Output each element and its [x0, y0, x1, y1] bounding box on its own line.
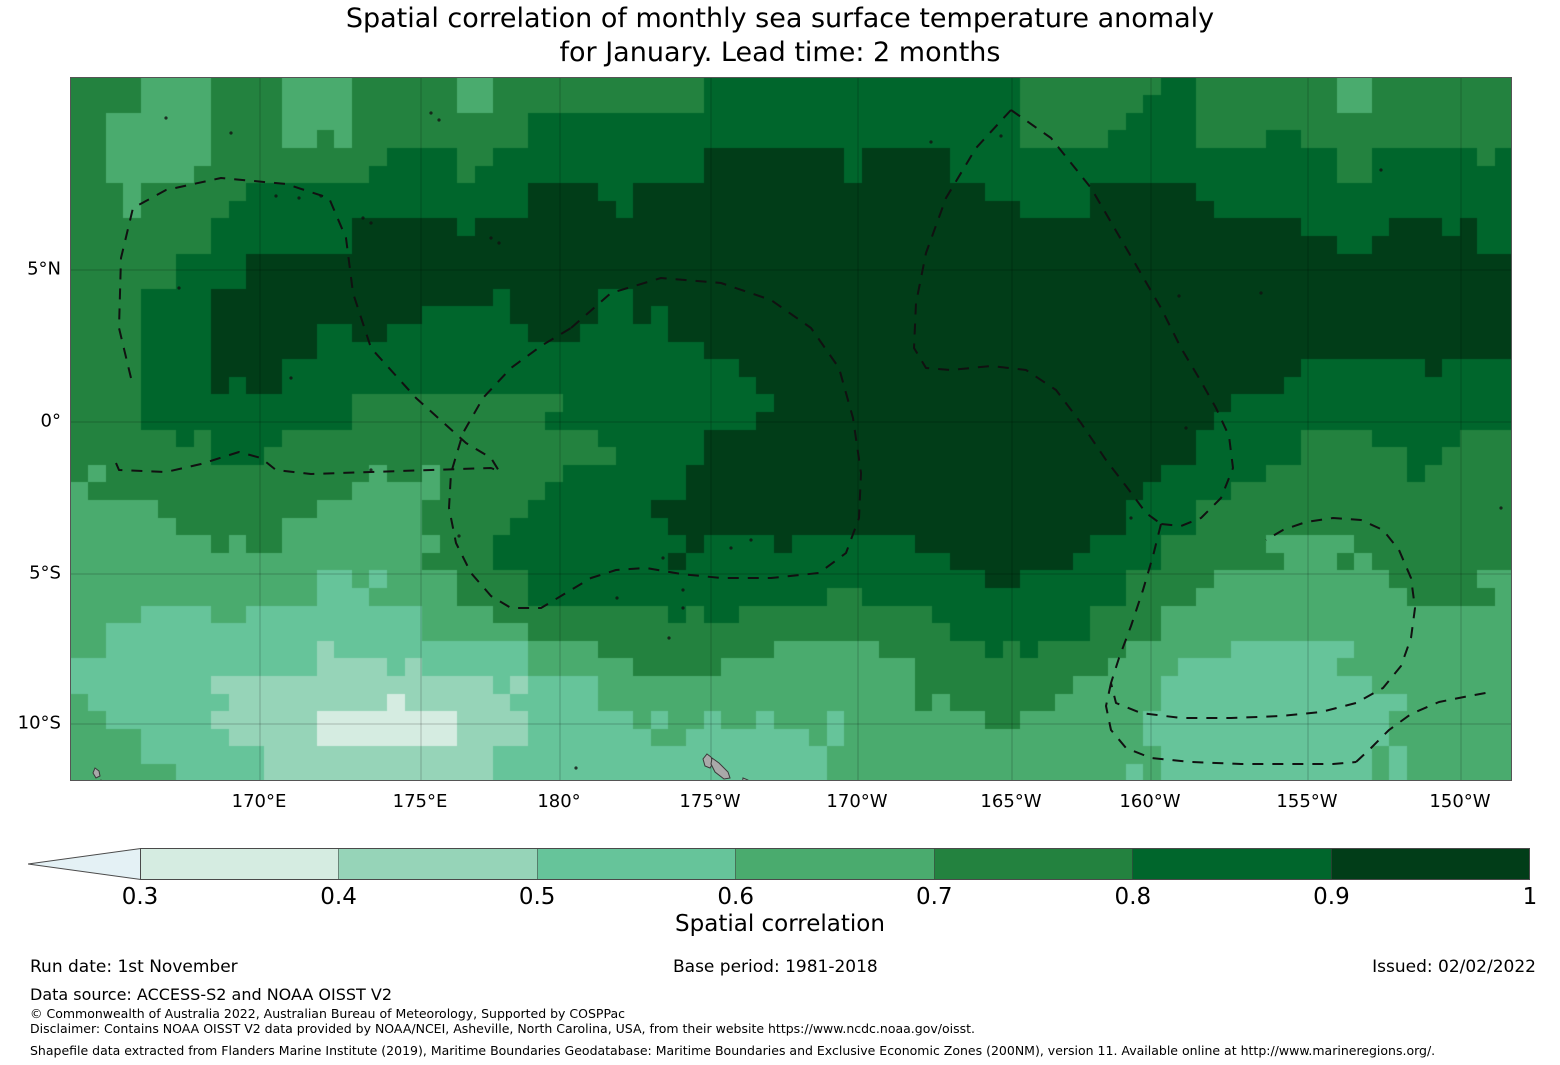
colorbar-tick-label: 0.5: [519, 884, 556, 910]
eez-boundary-line: [1111, 518, 1415, 718]
colorbar-tick-label: 0.9: [1313, 884, 1350, 910]
colorbar-tick-label: 0.4: [320, 884, 357, 910]
run-date-text: Run date: 1st November: [30, 957, 238, 977]
coastline-speck: [369, 221, 372, 224]
colorbar-band: [735, 849, 933, 879]
coastline-speck: [667, 636, 670, 639]
x-tick-label: 160°W: [1119, 791, 1180, 812]
map-overlay: [71, 78, 1512, 781]
coastline-speck: [369, 468, 372, 471]
colorbar-band: [1331, 849, 1529, 879]
eez-boundary-line: [1356, 692, 1491, 762]
coastline-speck: [661, 556, 664, 559]
coastline-speck: [297, 196, 300, 199]
x-tick-label: 165°W: [980, 791, 1041, 812]
colorbar-tick-label: 0.7: [916, 884, 953, 910]
coastline-speck: [289, 376, 292, 379]
x-tick-label: 155°W: [1276, 791, 1337, 812]
colorbar-band: [141, 849, 338, 879]
coastline-speck: [457, 534, 460, 537]
coastline-speck: [429, 111, 432, 114]
land-polygon: [93, 768, 100, 778]
coastline-speck: [615, 596, 618, 599]
colorbar-extend-min-arrow: [28, 848, 141, 880]
eez-boundary-line: [449, 278, 861, 608]
y-tick-label: 0°: [41, 411, 61, 432]
shapefile-credit-text: Shapefile data extracted from Flanders M…: [30, 1043, 1435, 1058]
figure-root: Spatial correlation of monthly sea surfa…: [0, 0, 1560, 1065]
coastline-speck: [1177, 294, 1180, 297]
y-tick-label: 5°N: [27, 259, 61, 280]
coastline-speck: [164, 116, 167, 119]
base-period-text: Base period: 1981-2018: [673, 957, 878, 977]
colorbar-band: [1132, 849, 1330, 879]
land-polygon: [711, 758, 730, 779]
colorbar: 0.30.40.50.60.70.80.91 Spatial correlati…: [0, 840, 1560, 940]
coastline-speck: [1379, 168, 1382, 171]
disclaimer-text: Disclaimer: Contains NOAA OISST V2 data …: [30, 1021, 975, 1036]
copyright-text: © Commonwealth of Australia 2022, Austra…: [30, 1006, 625, 1021]
data-source-text: Data source: ACCESS-S2 and NOAA OISST V2: [30, 985, 392, 1004]
x-tick-label: 150°W: [1429, 791, 1490, 812]
page-title: Spatial correlation of monthly sea surfa…: [0, 2, 1560, 70]
colorbar-tick-label: 0.6: [717, 884, 754, 910]
colorbar-tick-label: 0.3: [122, 884, 159, 910]
x-tick-label: 170°E: [232, 791, 287, 812]
coastline-speck: [229, 131, 232, 134]
issued-date-text: Issued: 02/02/2022: [1372, 957, 1536, 977]
eez-boundary-line: [1011, 110, 1233, 526]
colorbar-band: [338, 849, 536, 879]
y-tick-label: 10°S: [18, 713, 61, 734]
coastline-speck: [1499, 506, 1502, 509]
coastline-speck: [999, 134, 1002, 137]
coastline-speck: [929, 140, 932, 143]
coastline-speck: [489, 236, 492, 239]
x-tick-label: 175°W: [679, 791, 740, 812]
land-polygon: [99, 780, 108, 781]
coastline-speck: [361, 216, 364, 219]
coastline-speck: [729, 546, 732, 549]
x-tick-label: 175°E: [393, 791, 448, 812]
map-plot-area: [70, 77, 1512, 781]
eez-boundary-line: [914, 110, 1161, 524]
colorbar-band: [934, 849, 1132, 879]
land-polygon: [742, 778, 751, 781]
coastline-speck: [1129, 516, 1132, 519]
colorbar-tick-label: 1: [1523, 884, 1538, 910]
x-tick-label: 180°: [537, 791, 580, 812]
colorbar-band: [537, 849, 735, 879]
colorbar-bands: [140, 848, 1530, 880]
coastline-speck: [749, 538, 752, 541]
colorbar-tick-label: 0.8: [1115, 884, 1152, 910]
coastline-speck: [681, 606, 684, 609]
coastline-speck: [274, 194, 277, 197]
coastline-speck: [497, 241, 500, 244]
coastline-speck: [1184, 426, 1187, 429]
x-tick-label: 170°W: [826, 791, 887, 812]
eez-boundary-line: [116, 452, 499, 474]
coastline-speck: [319, 194, 322, 197]
coastline-speck: [574, 766, 577, 769]
coastline-speck: [177, 286, 180, 289]
coastline-speck: [681, 588, 684, 591]
eez-boundary-line: [119, 178, 499, 471]
coastline-speck: [1259, 291, 1262, 294]
y-tick-label: 5°S: [29, 563, 61, 584]
coastline-speck: [437, 118, 440, 121]
colorbar-label: Spatial correlation: [0, 911, 1560, 937]
